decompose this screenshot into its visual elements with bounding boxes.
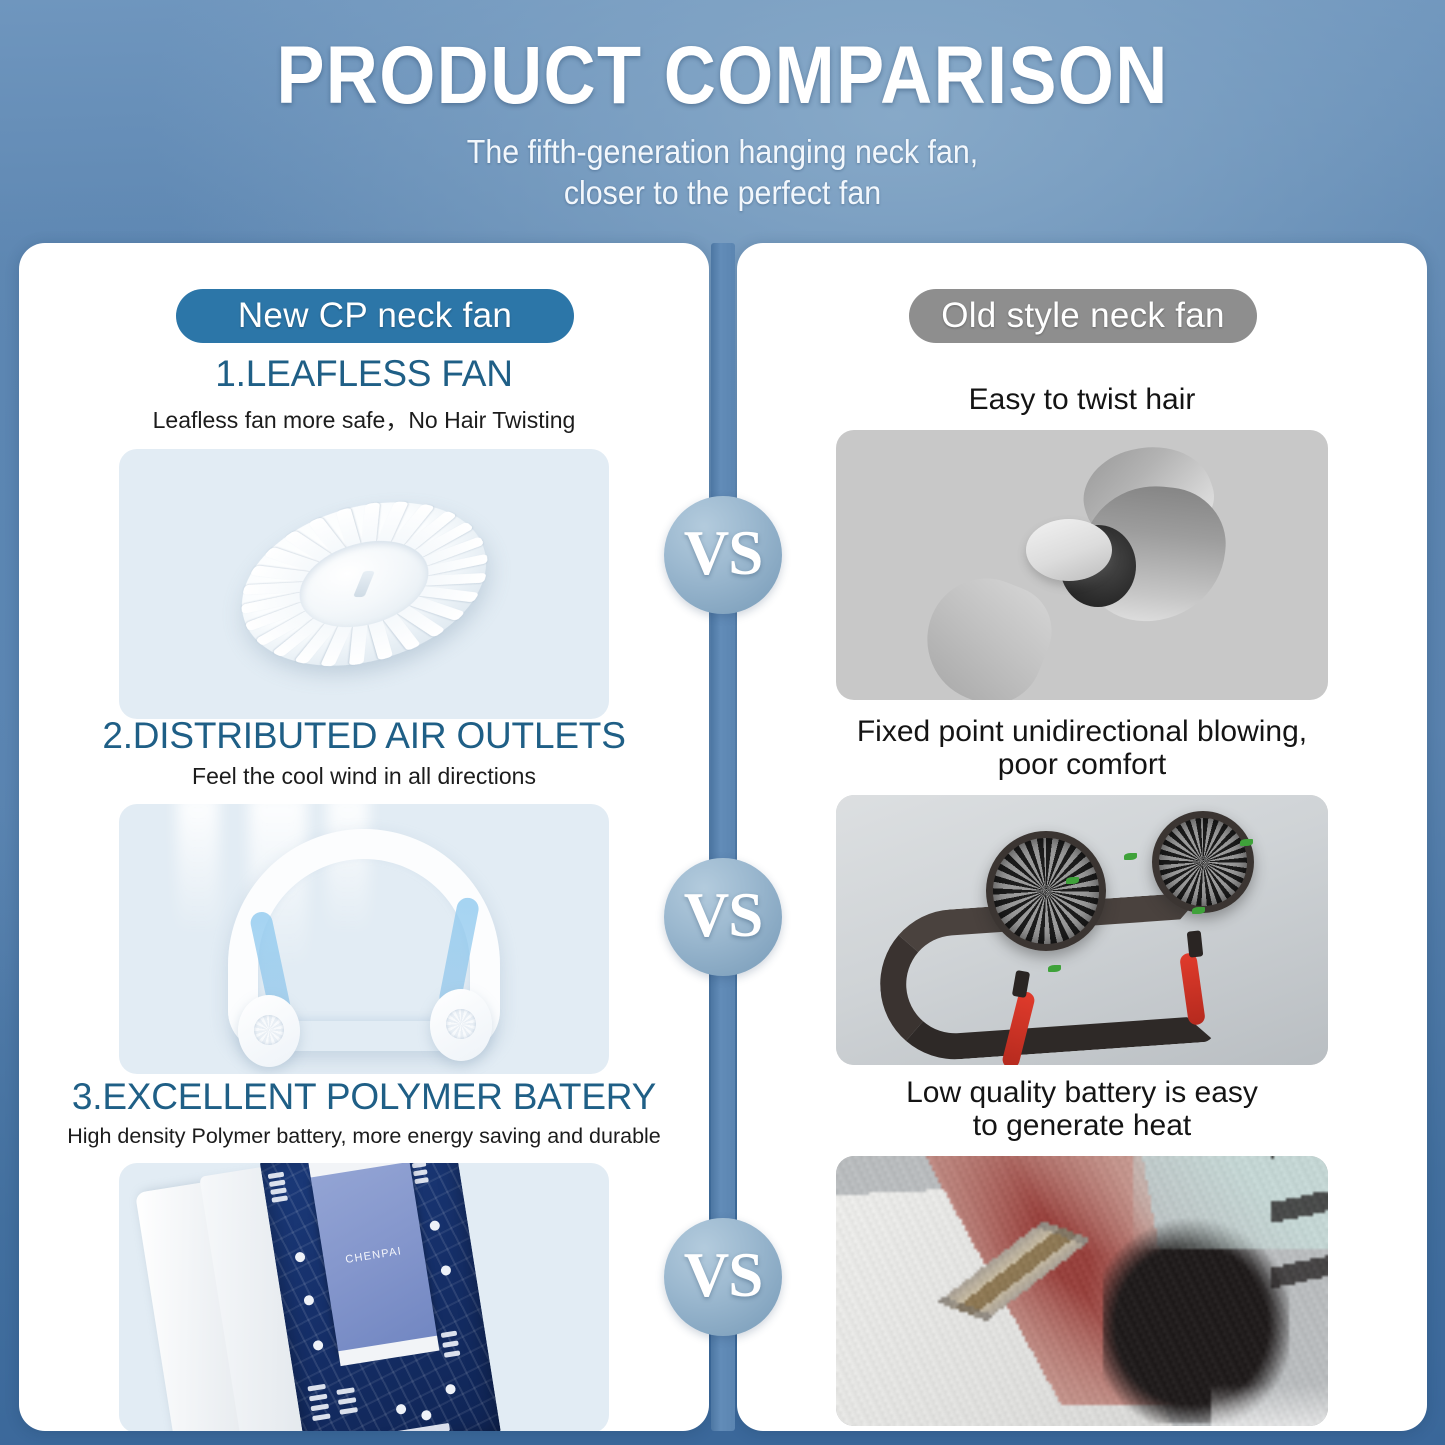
old-neck-fan-graphic	[836, 795, 1328, 1065]
old-product-panel: Old style neck fan Easy to twist hair Fi…	[737, 243, 1427, 1431]
vs-badge-1: VS	[664, 496, 782, 614]
left-section-2-subheading: Feel the cool wind in all directions	[19, 763, 709, 790]
right-section-2-caption: Fixed point unidirectional blowing, poor…	[737, 715, 1427, 781]
image-circuit-board-battery: CHENPAI	[119, 1163, 609, 1431]
image-battery-burn	[836, 1156, 1328, 1426]
vs-badge-3: VS	[664, 1218, 782, 1336]
right-section-unidirectional-blowing: Fixed point unidirectional blowing, poor…	[737, 715, 1427, 1065]
left-section-3-subheading: High density Polymer battery, more energ…	[19, 1124, 709, 1149]
circuit-board-graphic: CHENPAI	[176, 1163, 549, 1431]
page-subtitle: The fifth-generation hanging neck fan, c…	[58, 132, 1387, 213]
new-product-panel: New CP neck fan 1.LEAFLESS FAN Leafless …	[19, 243, 709, 1431]
image-old-neck-fan	[836, 795, 1328, 1065]
page-title: PRODUCT COMPARISON	[87, 36, 1359, 116]
right-section-1-caption: Easy to twist hair	[737, 383, 1427, 416]
image-new-neck-fan	[119, 804, 609, 1074]
image-leafless-turbine	[119, 449, 609, 719]
left-section-leafless-fan: 1.LEAFLESS FAN Leafless fan more safe，No…	[19, 353, 709, 719]
left-section-1-subheading: Leafless fan more safe，No Hair Twisting	[19, 401, 709, 435]
badge-new-cp-neck-fan: New CP neck fan	[176, 289, 574, 343]
right-section-3-caption: Low quality battery is easy to generate …	[737, 1076, 1427, 1142]
vs-label: VS	[684, 1239, 763, 1312]
propeller-graphic	[937, 440, 1227, 690]
left-section-air-outlets: 2.DISTRIBUTED AIR OUTLETS Feel the cool …	[19, 715, 709, 1074]
image-propeller	[836, 430, 1328, 700]
pixelated-burn-photo	[836, 1156, 1328, 1426]
page-header: PRODUCT COMPARISON The fifth-generation …	[0, 0, 1445, 240]
neck-fan-graphic	[214, 819, 514, 1069]
badge-old-style-neck-fan: Old style neck fan	[909, 289, 1257, 343]
right-section-low-quality-battery: Low quality battery is easy to generate …	[737, 1076, 1427, 1426]
left-section-3-heading: 3.EXCELLENT POLYMER BATERY	[19, 1076, 709, 1118]
vs-badge-2: VS	[664, 858, 782, 976]
turbine-impeller-graphic	[209, 449, 518, 719]
battery-brand-label: CHENPAI	[323, 1242, 424, 1269]
vs-label: VS	[684, 517, 763, 590]
left-section-2-heading: 2.DISTRIBUTED AIR OUTLETS	[19, 715, 709, 757]
vs-label: VS	[684, 879, 763, 952]
left-section-polymer-battery: 3.EXCELLENT POLYMER BATERY High density …	[19, 1076, 709, 1431]
right-section-twist-hair: Easy to twist hair	[737, 383, 1427, 700]
left-section-1-heading: 1.LEAFLESS FAN	[19, 353, 709, 395]
